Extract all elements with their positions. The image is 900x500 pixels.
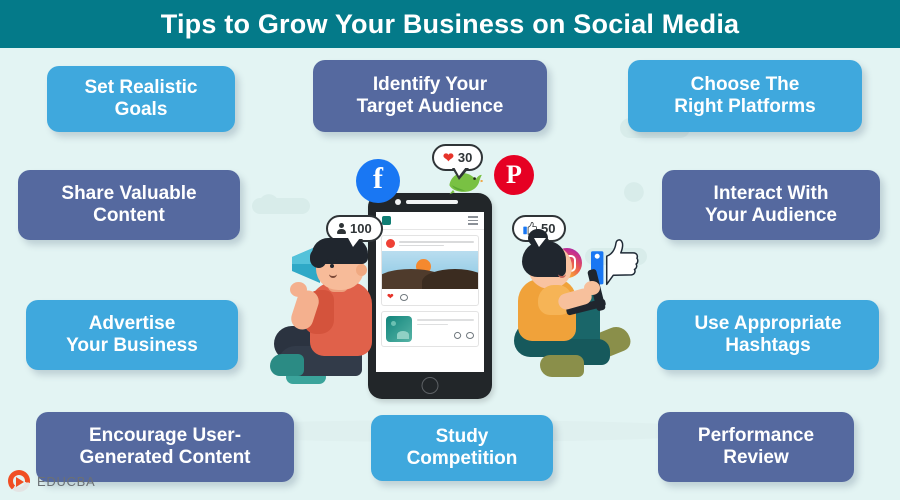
educba-mark-icon — [8, 470, 30, 492]
person-silhouette-icon: ● — [255, 178, 283, 224]
post-meta-lines — [399, 241, 474, 246]
eyebrow — [555, 260, 565, 262]
character-woman-with-laptop — [500, 243, 640, 399]
facebook-glyph: f — [373, 162, 383, 196]
tip-share-valuable-content[interactable]: Share Valuable Content — [18, 170, 240, 240]
home-button[interactable] — [422, 377, 439, 394]
eye — [330, 264, 334, 268]
pinterest-glyph: P — [506, 160, 522, 190]
comment-icon[interactable] — [400, 294, 408, 301]
post-meta-lines — [417, 316, 474, 342]
infographic-canvas: Tips to Grow Your Business on Social Med… — [0, 0, 900, 500]
character-man-with-megaphone — [272, 238, 398, 398]
pinterest-icon[interactable]: P — [494, 155, 534, 195]
eye — [558, 265, 562, 269]
facebook-icon[interactable]: f — [356, 159, 400, 203]
tip-interact-with-your-audience[interactable]: Interact With Your Audience — [662, 170, 880, 240]
tip-advertise-your-business[interactable]: Advertise Your Business — [26, 300, 238, 370]
comment-icon[interactable] — [466, 332, 474, 339]
educba-logo[interactable]: EDUCBA — [8, 470, 95, 492]
hill-shape — [422, 269, 478, 289]
likes-bubble: ❤ 30 — [432, 144, 483, 171]
person-silhouette-icon: ● — [620, 166, 648, 212]
tip-set-realistic-goals[interactable]: Set Realistic Goals — [47, 66, 235, 132]
ear — [356, 264, 367, 276]
followers-count: 100 — [350, 221, 372, 236]
heart-icon: ❤ — [443, 151, 454, 164]
tip-choose-right-platforms[interactable]: Choose The Right Platforms — [628, 60, 862, 132]
page-title: Tips to Grow Your Business on Social Med… — [161, 9, 740, 40]
tip-performance-review[interactable]: Performance Review — [658, 412, 854, 482]
phone-camera-icon — [395, 199, 401, 205]
likes-count: 30 — [458, 150, 472, 165]
header-bar: Tips to Grow Your Business on Social Med… — [0, 0, 900, 48]
app-topbar — [376, 212, 484, 230]
educba-wordmark: EDUCBA — [37, 474, 95, 489]
phone-speaker — [406, 200, 458, 204]
tip-identify-target-audience[interactable]: Identify Your Target Audience — [313, 60, 547, 132]
post-actions — [417, 328, 474, 339]
hair — [310, 248, 326, 268]
shoe — [540, 355, 584, 377]
tip-study-competition[interactable]: Study Competition — [371, 415, 553, 481]
hamburger-menu-icon[interactable] — [468, 216, 478, 224]
tip-use-appropriate-hashtags[interactable]: Use Appropriate Hashtags — [657, 300, 879, 370]
person-icon — [337, 223, 346, 234]
shoe — [270, 354, 304, 376]
app-logo-icon — [382, 216, 391, 225]
eyebrow — [327, 259, 337, 261]
hand — [290, 282, 307, 297]
heart-outline-icon[interactable] — [453, 331, 463, 341]
hand — [584, 281, 600, 295]
